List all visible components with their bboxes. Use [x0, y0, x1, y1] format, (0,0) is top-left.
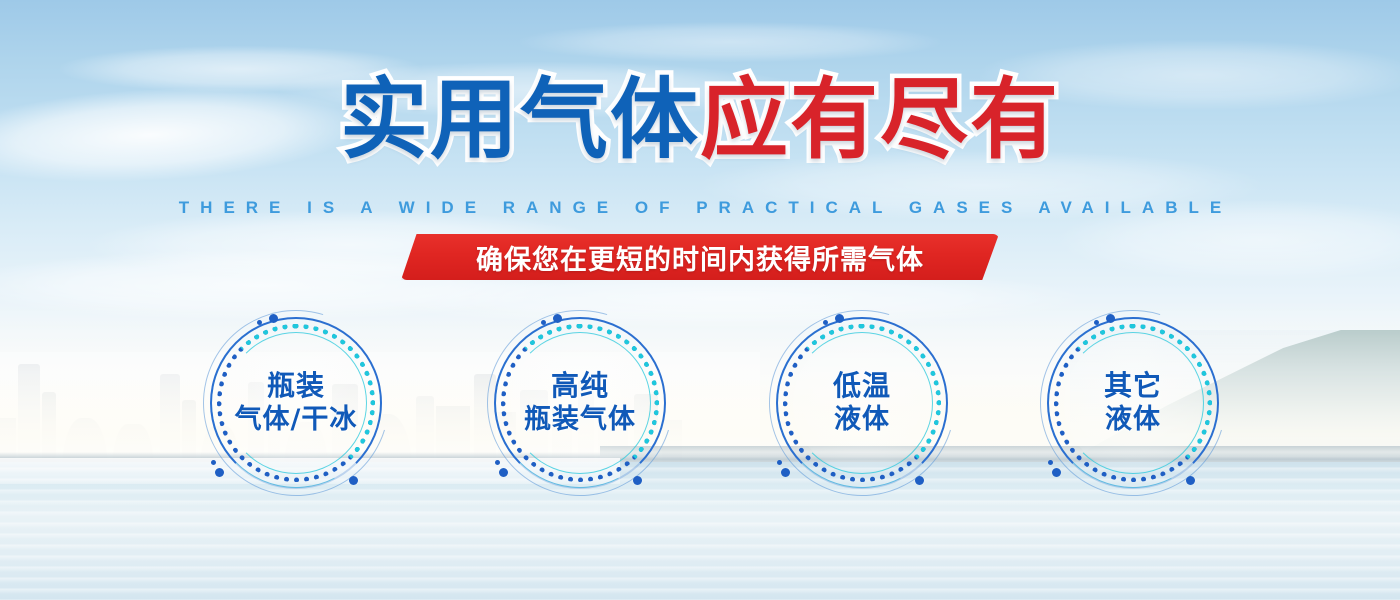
cloud-decoration — [520, 22, 940, 62]
headline-red-part: 应有尽有 — [700, 68, 1060, 171]
category-circle-cryogenic-liquid[interactable]: 低温 液体 — [769, 310, 955, 496]
category-label: 高纯 瓶装气体 — [487, 310, 673, 496]
promo-banner: 实用气体应有尽有 THERE IS A WIDE RANGE OF PRACTI… — [0, 0, 1400, 600]
category-label-line2: 瓶装气体 — [524, 404, 636, 437]
category-label-line2: 液体 — [834, 404, 890, 437]
category-circle-other-liquid[interactable]: 其它 液体 — [1040, 310, 1226, 496]
category-label-line1: 其它 — [1104, 369, 1162, 403]
subtitle: THERE IS A WIDE RANGE OF PRACTICAL GASES… — [0, 198, 1400, 218]
category-circle-high-purity-bottled-gas[interactable]: 高纯 瓶装气体 — [487, 310, 673, 496]
page-title: 实用气体应有尽有 — [0, 76, 1400, 164]
category-circle-bottled-gas-dry-ice[interactable]: 瓶装 气体/干冰 — [203, 310, 389, 496]
category-label-line1: 瓶装 — [267, 369, 325, 403]
category-label-line1: 低温 — [833, 369, 891, 403]
category-label: 其它 液体 — [1040, 310, 1226, 496]
category-label-line1: 高纯 — [551, 369, 609, 403]
category-label: 瓶装 气体/干冰 — [203, 310, 389, 496]
category-label-line2: 液体 — [1105, 404, 1161, 437]
category-label-line2: 气体/干冰 — [235, 404, 358, 437]
headline-blue-part: 实用气体 — [340, 68, 700, 171]
category-label: 低温 液体 — [769, 310, 955, 496]
tagline-text: 确保您在更短的时间内获得所需气体 — [0, 234, 1400, 280]
category-circle-group: 瓶装 气体/干冰 高纯 瓶装气体 — [0, 310, 1400, 510]
